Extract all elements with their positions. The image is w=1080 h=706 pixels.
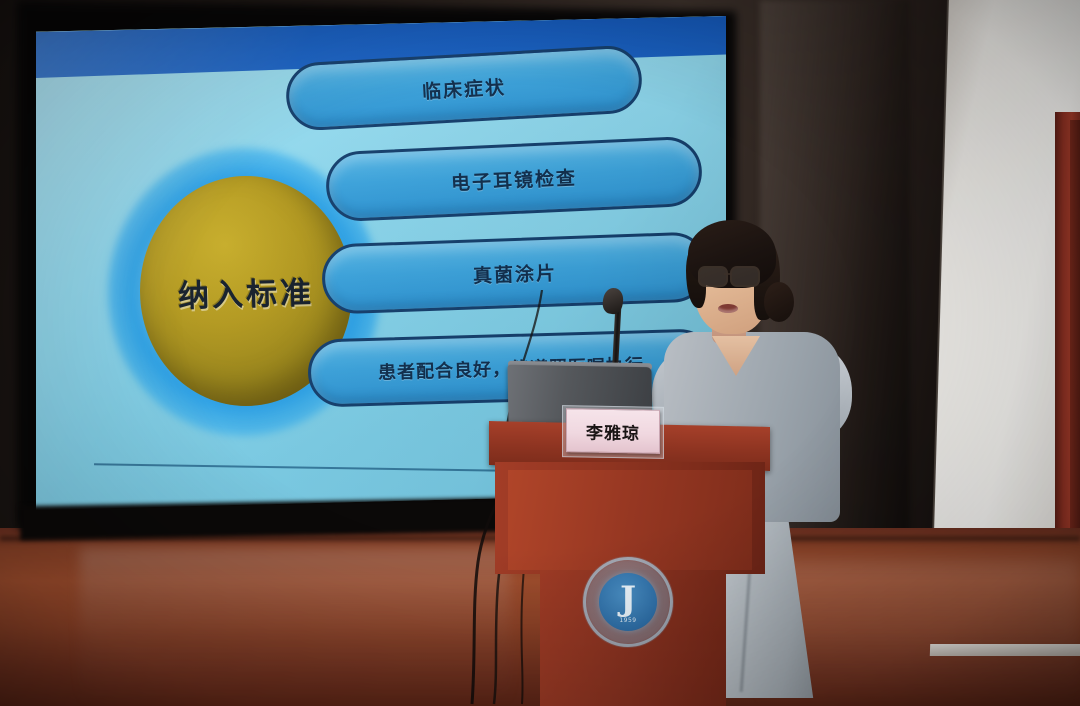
emblem-disc: J 1959 (599, 573, 657, 631)
emblem-year: 1959 (599, 617, 657, 624)
photo-scene: 纳入标准 临床症状 电子耳镜检查 真菌涂片 患者配合良好，能遵照医嘱执行 (0, 0, 1080, 706)
slide-item-2-label: 电子耳镜检查 (450, 163, 577, 196)
emblem-monogram: J (620, 582, 636, 616)
slide-item-3-label: 真菌涂片 (473, 258, 558, 288)
podium-front-panel (508, 470, 752, 570)
hospital-emblem: J 1959 (582, 556, 674, 648)
glasses-right-lens (730, 266, 760, 287)
nameplate-text: 李雅琼 (586, 418, 640, 444)
glasses-bridge (724, 273, 732, 275)
glasses-left-lens (698, 266, 728, 287)
speaker-hair-bun (764, 282, 794, 322)
slide-item-2: 电子耳镜检查 (325, 136, 704, 223)
nameplate: 李雅琼 (566, 408, 660, 454)
floor-wall-joint (930, 644, 1080, 656)
center-circle-label: 纳入标准 (177, 267, 314, 316)
speaker-mouth (718, 304, 738, 313)
slide-item-1-label: 临床症状 (421, 72, 506, 104)
